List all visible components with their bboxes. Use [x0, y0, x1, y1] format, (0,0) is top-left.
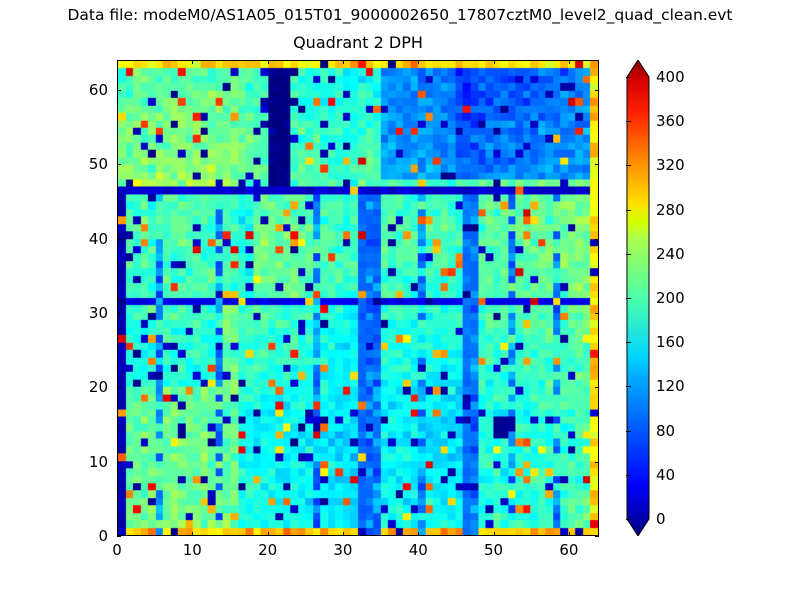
colorbar-tick-label: 160	[656, 333, 685, 351]
colorbar-tick-mark	[626, 342, 631, 343]
heatmap-image	[118, 61, 598, 535]
colorbar-tick-mark	[626, 519, 631, 520]
x-tick-label: 0	[112, 541, 122, 559]
colorbar-tick-mark	[626, 77, 631, 78]
colorbar-tick-label: 320	[656, 156, 685, 174]
y-tick-mark-right	[595, 536, 599, 537]
y-tick-mark-right	[595, 239, 599, 240]
y-tick-mark	[117, 239, 121, 240]
colorbar-tick-label: 360	[656, 112, 685, 130]
x-tick-label: 60	[559, 541, 578, 559]
x-tick-mark-top	[268, 60, 269, 64]
colorbar-tick-mark	[626, 210, 631, 211]
x-tick-mark-top	[494, 60, 495, 64]
colorbar-tick-label: 40	[656, 466, 675, 484]
y-tick-label: 0	[60, 527, 108, 545]
y-tick-mark	[117, 313, 121, 314]
colorbar-tick-label: 0	[656, 510, 666, 528]
colorbar-tick-label: 200	[656, 289, 685, 307]
x-tick-mark-top	[192, 60, 193, 64]
colorbar-tick-mark	[626, 298, 631, 299]
x-tick-mark	[268, 532, 269, 536]
y-tick-mark	[117, 164, 121, 165]
y-tick-label: 60	[60, 81, 108, 99]
x-tick-mark	[418, 532, 419, 536]
x-tick-label: 10	[183, 541, 202, 559]
y-tick-mark	[117, 90, 121, 91]
heatmap-axes[interactable]	[117, 60, 599, 536]
y-tick-label: 30	[60, 304, 108, 322]
colorbar-tick-mark	[626, 165, 631, 166]
x-tick-mark-top	[117, 60, 118, 64]
colorbar-tick-mark	[626, 386, 631, 387]
colorbar-tick-label: 400	[656, 68, 685, 86]
y-tick-mark-right	[595, 313, 599, 314]
y-tick-mark-right	[595, 462, 599, 463]
x-tick-mark	[494, 532, 495, 536]
x-tick-mark	[343, 532, 344, 536]
y-tick-label: 50	[60, 155, 108, 173]
x-tick-label: 30	[333, 541, 352, 559]
y-tick-mark-right	[595, 387, 599, 388]
y-tick-mark	[117, 536, 121, 537]
x-tick-mark-top	[569, 60, 570, 64]
x-tick-label: 40	[409, 541, 428, 559]
colorbar-tick-mark	[626, 475, 631, 476]
y-tick-label: 40	[60, 230, 108, 248]
colorbar-tick-label: 120	[656, 377, 685, 395]
x-tick-label: 20	[258, 541, 277, 559]
y-tick-mark-right	[595, 164, 599, 165]
x-tick-label: 50	[484, 541, 503, 559]
y-tick-mark	[117, 387, 121, 388]
data-file-title: Data file: modeM0/AS1A05_015T01_90000026…	[0, 6, 800, 24]
page-title: Quadrant 2 DPH	[117, 33, 599, 52]
colorbar-tick-label: 280	[656, 201, 685, 219]
colorbar-tick-label: 80	[656, 422, 675, 440]
y-tick-mark	[117, 462, 121, 463]
colorbar-tick-mark	[626, 431, 631, 432]
y-tick-label: 20	[60, 378, 108, 396]
figure-canvas: Data file: modeM0/AS1A05_015T01_90000026…	[0, 0, 800, 600]
x-tick-mark	[569, 532, 570, 536]
x-tick-mark	[192, 532, 193, 536]
colorbar-tick-mark	[626, 254, 631, 255]
x-tick-mark-top	[418, 60, 419, 64]
x-tick-mark-top	[343, 60, 344, 64]
y-tick-mark-right	[595, 90, 599, 91]
colorbar-tick-label: 240	[656, 245, 685, 263]
y-tick-label: 10	[60, 453, 108, 471]
colorbar-tick-mark	[626, 121, 631, 122]
